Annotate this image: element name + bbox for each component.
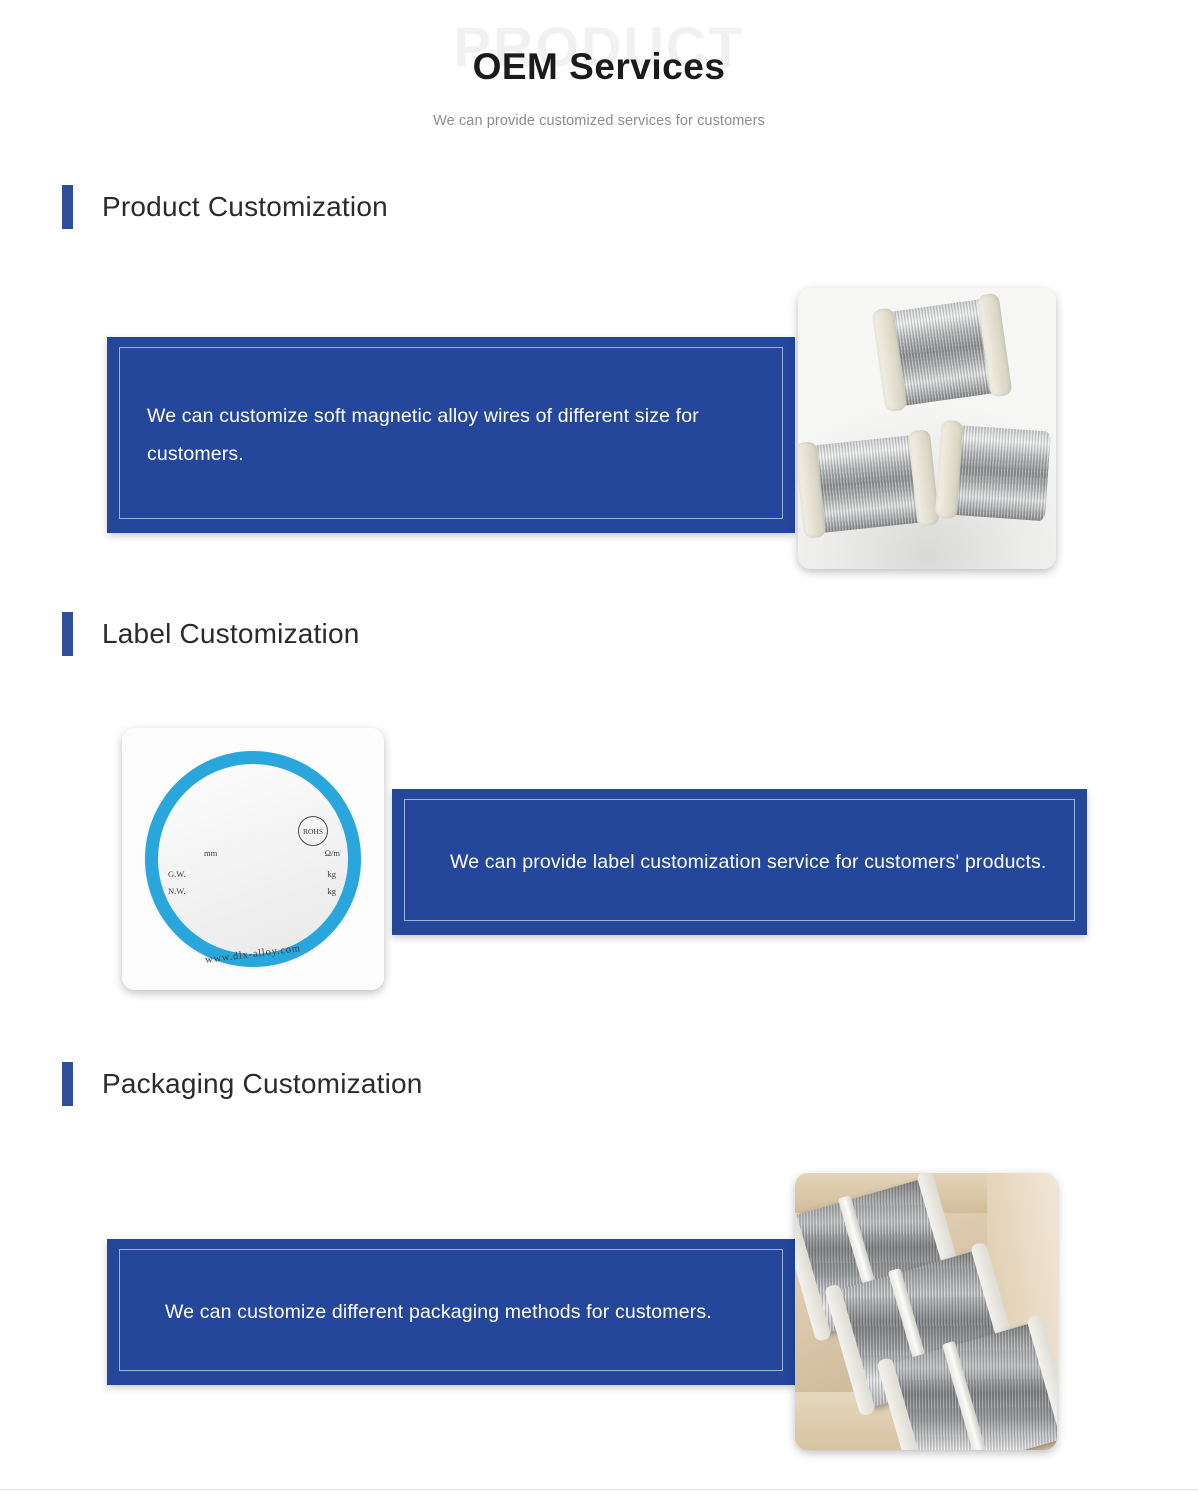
label-field-gross-weight: G.W. <box>168 869 186 879</box>
info-panel-packaging-customization: We can customize different packaging met… <box>107 1239 795 1385</box>
info-panel-label-customization: We can provide label customization servi… <box>392 789 1087 935</box>
section-heading-product-customization: Product Customization <box>62 183 388 231</box>
section-heading-packaging-customization: Packaging Customization <box>62 1060 423 1108</box>
label-field-resistance-unit: Ω/m <box>325 848 340 858</box>
photo-inner: ROHS mm G.W. N.W. Ω/m kg kg www.dlx-allo… <box>122 728 384 990</box>
panel-text: We can provide label customization servi… <box>392 843 1083 881</box>
round-label-photo: ROHS mm G.W. N.W. Ω/m kg kg www.dlx-allo… <box>122 728 384 990</box>
accent-bar-icon <box>62 1062 73 1106</box>
accent-bar-icon <box>62 185 73 229</box>
label-field-diameter-unit: mm <box>204 848 217 858</box>
spool-strap <box>942 1341 990 1450</box>
photo-inner <box>795 1173 1057 1450</box>
oem-services-page: PRODUCT OEM Services We can provide cust… <box>0 0 1198 1492</box>
label-field-net-weight: N.W. <box>168 886 186 896</box>
label-field-net-weight-unit: kg <box>328 886 337 896</box>
section-title: Product Customization <box>102 191 388 223</box>
panel-text: We can customize different packaging met… <box>107 1293 748 1331</box>
wire-spools-photo <box>798 288 1056 569</box>
accent-bar-icon <box>62 612 73 656</box>
section-heading-label-customization: Label Customization <box>62 610 360 658</box>
bottom-divider <box>0 1489 1198 1490</box>
panel-text: We can customize soft magnetic alloy wir… <box>107 397 795 473</box>
label-disc-graphic <box>145 751 361 967</box>
rohs-badge-icon: ROHS <box>298 816 328 846</box>
label-field-gross-weight-unit: kg <box>328 869 337 879</box>
photo-inner <box>798 288 1056 569</box>
spool-left <box>807 434 928 533</box>
page-title: OEM Services <box>0 46 1198 88</box>
section-title: Packaging Customization <box>102 1068 423 1100</box>
page-header: PRODUCT OEM Services We can provide cust… <box>0 0 1198 150</box>
section-title: Label Customization <box>102 618 360 650</box>
info-panel-product-customization: We can customize soft magnetic alloy wir… <box>107 337 795 533</box>
carton-packaging-photo <box>795 1173 1057 1450</box>
page-subtitle: We can provide customized services for c… <box>0 113 1198 129</box>
spool-right-hub <box>974 498 1044 558</box>
